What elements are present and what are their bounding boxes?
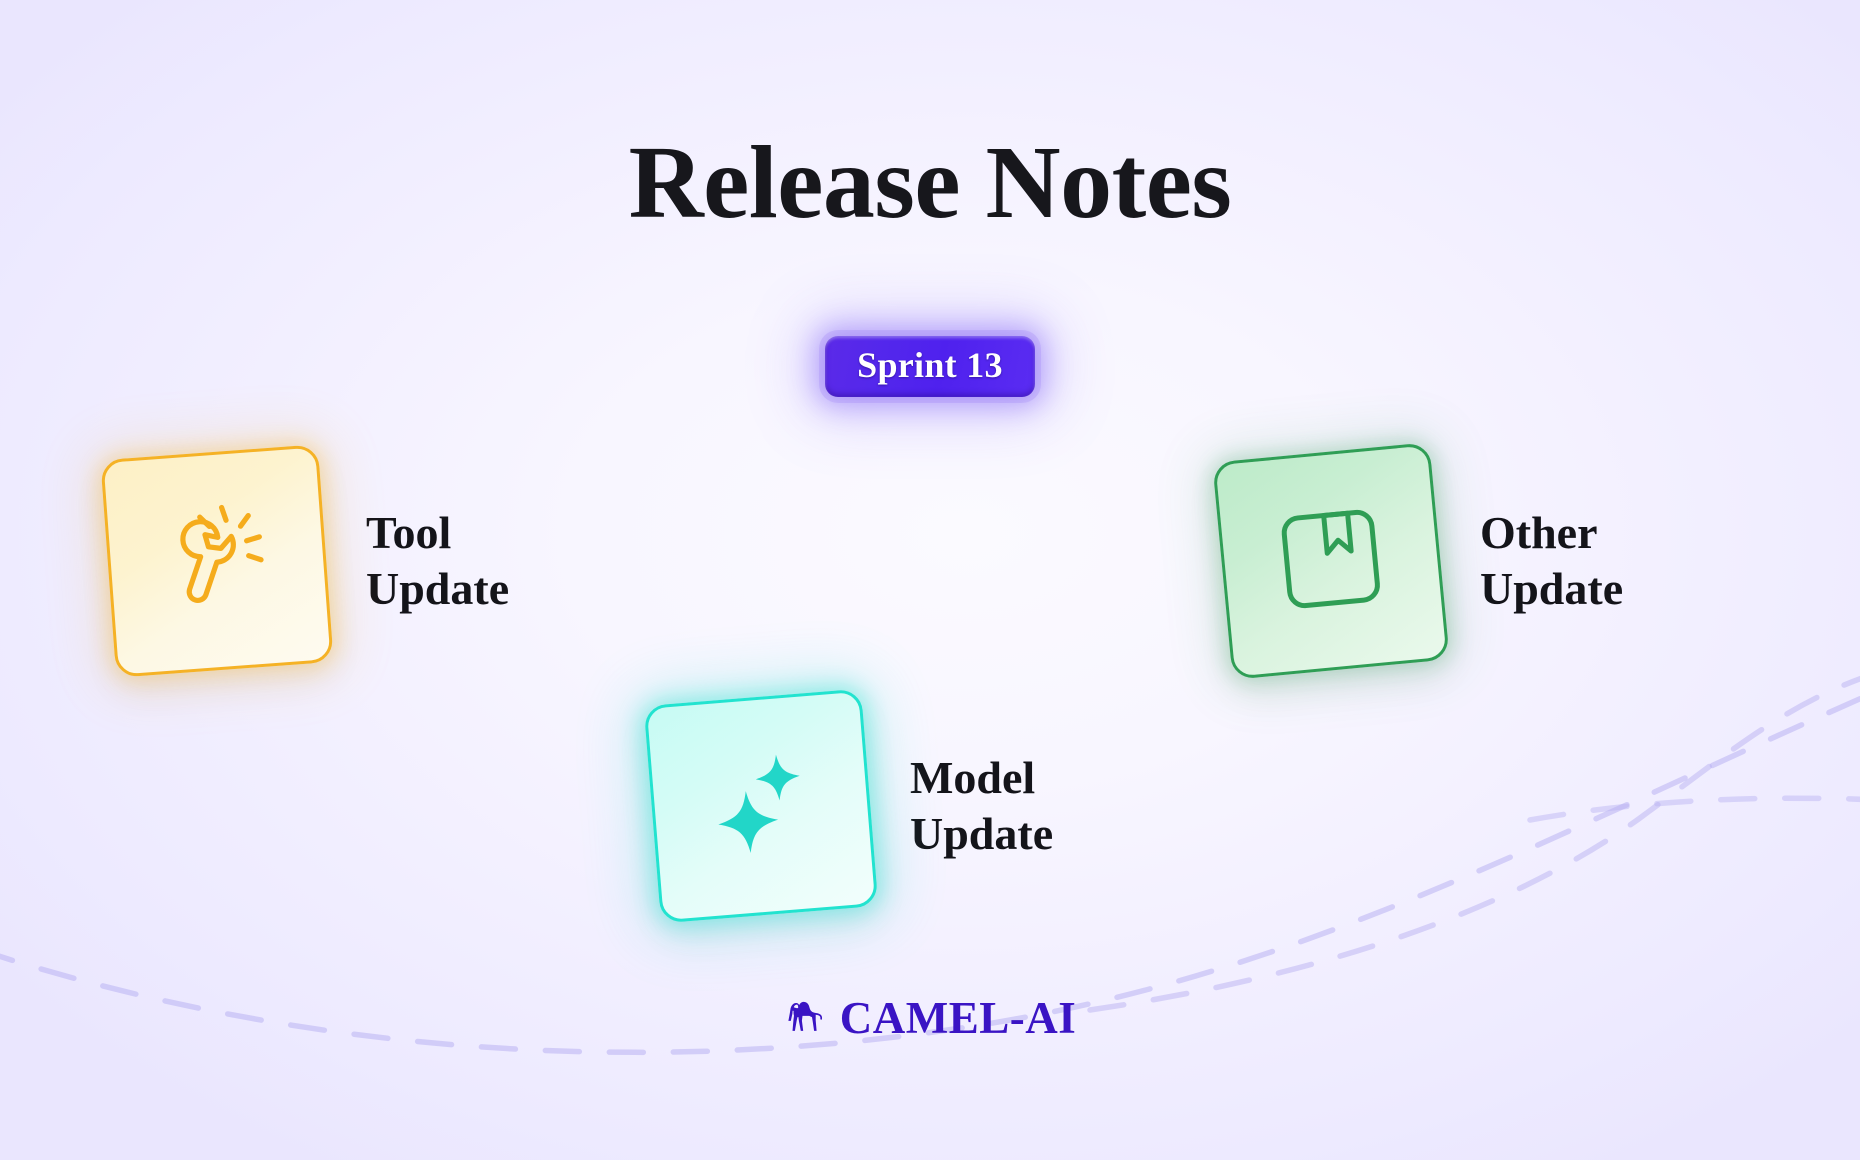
model-update-card[interactable] (644, 689, 879, 924)
feature-model-update[interactable]: Model Update (652, 697, 1053, 915)
release-notes-poster: Release Notes Sprint 13 Tool Update (0, 0, 1860, 1160)
feature-other-update[interactable]: Other Update (1222, 452, 1623, 670)
dashed-curve-upper (1090, 672, 1860, 1010)
model-update-label: Model Update (910, 750, 1053, 862)
camel-icon (784, 996, 826, 1041)
sprint-badge-container: Sprint 13 (0, 336, 1860, 397)
brand-footer[interactable]: CAMEL-AI (0, 996, 1860, 1041)
other-update-card[interactable] (1212, 442, 1450, 680)
feature-tool-update[interactable]: Tool Update (108, 452, 509, 670)
tool-update-label: Tool Update (366, 505, 509, 617)
dashed-curve-tail (1530, 798, 1860, 820)
tool-update-card[interactable] (100, 444, 333, 677)
sprint-badge[interactable]: Sprint 13 (825, 336, 1035, 397)
package-box-icon (1268, 495, 1395, 626)
other-update-label: Other Update (1480, 505, 1623, 617)
sparkles-icon (696, 739, 826, 873)
brand-name: CAMEL-AI (840, 996, 1077, 1041)
page-title: Release Notes (0, 128, 1860, 237)
wrench-sparkle-icon (153, 494, 282, 627)
